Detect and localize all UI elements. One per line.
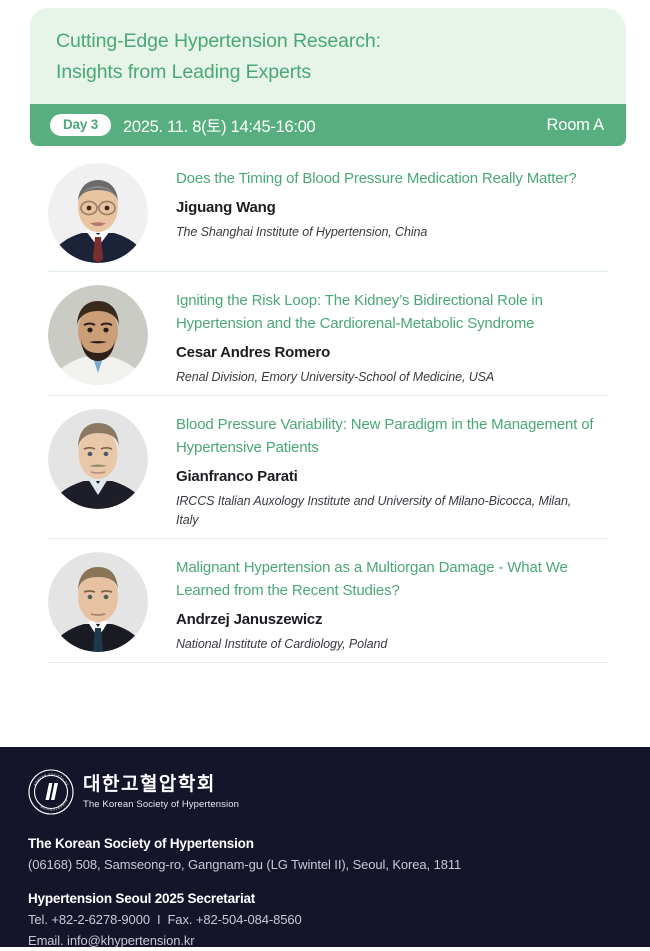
footer-tel: Tel. +82-2-6278-9000 [28,912,150,927]
talk-title[interactable]: Malignant Hypertension as a Multiorgan D… [176,556,596,602]
footer-separator: I [157,912,161,927]
speaker-name: Andrzej Januszewicz [176,609,610,631]
session-meta-bar: Day 3 2025. 11. 8(토) 14:45-16:00 Room A [30,104,626,146]
avatar-jiguang-wang [48,163,148,263]
page-footer: KOREAN SOCIETY OF HYPERTENSION 대한고혈압학회 T… [0,747,650,947]
avatar-andrzej-januszewicz [48,552,148,652]
logo-korean-name: 대한고혈압학회 [83,774,239,796]
session-room: Room A [547,116,605,135]
footer-secretariat-name: Hypertension Seoul 2025 Secretariat [28,888,622,909]
logo-english-name: The Korean Society of Hypertension [83,798,239,811]
speaker-divider [48,662,608,663]
talk-title[interactable]: Blood Pressure Variability: New Paradigm… [176,413,596,459]
speaker-info: Malignant Hypertension as a Multiorgan D… [176,547,610,654]
footer-contact-line: Tel. +82-2-6278-9000IFax. +82-504-084-85… [28,909,622,930]
speaker-info: Blood Pressure Variability: New Paradigm… [176,404,610,530]
session-header-card: Cutting-Edge Hypertension Research: Insi… [30,8,626,146]
session-datetime: 2025. 11. 8(토) 14:45-16:00 [123,113,315,137]
speaker-list: Does the Timing of Blood Pressure Medica… [0,150,650,663]
speaker-affiliation: The Shanghai Institute of Hypertension, … [176,223,576,242]
speaker-row[interactable]: Igniting the Risk Loop: The Kidney’s Bid… [0,272,650,395]
speaker-info: Igniting the Risk Loop: The Kidney’s Bid… [176,280,610,387]
speaker-name: Cesar Andres Romero [176,342,610,364]
society-emblem-icon: KOREAN SOCIETY OF HYPERTENSION [28,769,74,815]
speaker-row[interactable]: Blood Pressure Variability: New Paradigm… [0,396,650,538]
speaker-row[interactable]: Malignant Hypertension as a Multiorgan D… [0,539,650,662]
speaker-affiliation: Renal Division, Emory University-School … [176,368,576,387]
speaker-info: Does the Timing of Blood Pressure Medica… [176,158,610,242]
day-badge: Day 3 [50,114,111,136]
session-title-line-2: Insights from Leading Experts [56,57,600,88]
footer-secretariat-block: Hypertension Seoul 2025 Secretariat Tel.… [28,888,622,951]
session-title-area: Cutting-Edge Hypertension Research: Insi… [30,8,626,104]
talk-title[interactable]: Igniting the Risk Loop: The Kidney’s Bid… [176,289,596,335]
footer-logo: KOREAN SOCIETY OF HYPERTENSION 대한고혈압학회 T… [28,769,622,815]
footer-email[interactable]: Email. info@khypertension.kr [28,930,622,951]
logo-text-block: 대한고혈압학회 The Korean Society of Hypertensi… [83,774,239,811]
speaker-name: Jiguang Wang [176,197,610,219]
footer-org-name: The Korean Society of Hypertension [28,833,622,854]
talk-title[interactable]: Does the Timing of Blood Pressure Medica… [176,167,596,190]
speaker-affiliation: National Institute of Cardiology, Poland [176,635,576,654]
avatar-gianfranco-parati [48,409,148,509]
footer-org-block: The Korean Society of Hypertension (0616… [28,833,622,875]
footer-address: (06168) 508, Samseong-ro, Gangnam-gu (LG… [28,854,622,875]
speaker-affiliation: IRCCS Italian Auxology Institute and Uni… [176,492,576,530]
session-title-line-1: Cutting-Edge Hypertension Research: [56,26,600,57]
avatar-cesar-andres-romero [48,285,148,385]
speaker-name: Gianfranco Parati [176,466,610,488]
speaker-row[interactable]: Does the Timing of Blood Pressure Medica… [0,150,650,271]
footer-fax: Fax. +82-504-084-8560 [167,912,301,927]
